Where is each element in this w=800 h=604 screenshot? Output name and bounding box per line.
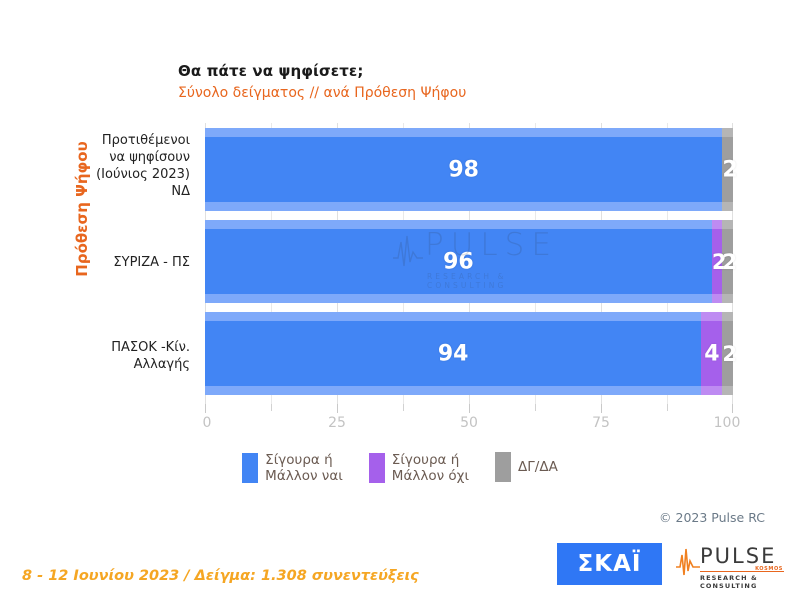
legend-label-no: Σίγουρα ή Μάλλον όχι [392,452,469,484]
copyright-text: © 2023 Pulse RC [659,510,765,525]
bar-row[interactable]: 96 2 2 [205,220,733,303]
bar-value-yes: 98 [205,157,722,182]
chart-title: Θα πάτε να ψηφίσετε; [178,62,363,80]
legend-item-yes[interactable]: Σίγουρα ή Μάλλον ναι [242,452,343,484]
bar-value-no: 4 [701,341,722,366]
x-tick [337,404,338,413]
legend-label-dkda: ΔΓ/ΔΑ [518,459,558,475]
category-label-line: ΣΥΡΙΖΑ - ΠΣ [40,254,190,271]
category-label-line: ΝΔ [40,183,190,200]
category-label-line: Αλλαγής [40,356,190,373]
x-axis: 0 25 50 75 100 [205,404,733,434]
chart-subtitle: Σύνολο δείγματος // ανά Πρόθεση Ψήφου [178,85,466,101]
x-tick [469,404,470,413]
legend-swatch-yes [242,453,258,483]
legend: Σίγουρα ή Μάλλον ναι Σίγουρα ή Μάλλον όχ… [0,452,800,484]
x-tick [403,404,404,411]
bar-value-yes: 96 [205,249,712,274]
x-tick [271,404,272,411]
x-tick [667,404,668,411]
bar-value-dkda: 2 [722,342,733,366]
x-tick [601,404,602,413]
x-tick-label: 75 [592,415,610,431]
category-label-line: (Ιούνιος 2023) [40,166,190,183]
x-tick [535,404,536,411]
category-label-syriza: ΣΥΡΙΖΑ - ΠΣ [40,254,190,271]
bar-row[interactable]: 98 2 [205,128,733,211]
legend-swatch-no [369,453,385,483]
legend-item-no[interactable]: Σίγουρα ή Μάλλον όχι [369,452,469,484]
bar-value-no: 2 [712,250,723,274]
category-label-line: Προτιθέμενοι [40,132,190,149]
legend-swatch-dkda [495,452,511,482]
category-label-line: να ψηφίσουν [40,149,190,166]
category-label-line: ΠΑΣΟΚ -Κίν. [40,339,190,356]
category-label-nd: Προτιθέμενοι να ψηφίσουν (Ιούνιος 2023) … [40,132,190,200]
x-tick-label: 50 [460,415,478,431]
legend-label-yes: Σίγουρα ή Μάλλον ναι [265,452,343,484]
x-tick-label: 100 [714,415,741,431]
skai-logo-text: ΣΚΑΪ [578,551,642,577]
pulse-logo-rule [700,571,784,572]
x-tick-label: 25 [328,415,346,431]
skai-logo: ΣΚΑΪ [557,543,662,585]
legend-item-dkda[interactable]: ΔΓ/ΔΑ [495,452,558,482]
x-tick-label: 0 [203,415,212,431]
x-tick [732,404,733,413]
bar-value-dkda: 2 [722,250,733,274]
x-tick [205,404,206,413]
bar-value-yes: 94 [205,341,701,366]
category-label-pasok: ΠΑΣΟΚ -Κίν. Αλλαγής [40,339,190,373]
pulse-logo-tagline: RESEARCH & CONSULTING [700,574,784,590]
pulse-logo: PULSE KOSMOS RESEARCH & CONSULTING [676,543,784,585]
bar-value-dkda: 2 [722,157,733,182]
pulse-wave-icon [676,547,700,579]
plot-area: 98 2 96 2 2 94 4 2 [205,123,733,404]
pulse-logo-name: PULSE [700,544,776,568]
bar-row[interactable]: 94 4 2 [205,312,733,395]
fieldwork-note: 8 - 12 Ιουνίου 2023 / Δείγμα: 1.308 συνε… [22,568,419,584]
